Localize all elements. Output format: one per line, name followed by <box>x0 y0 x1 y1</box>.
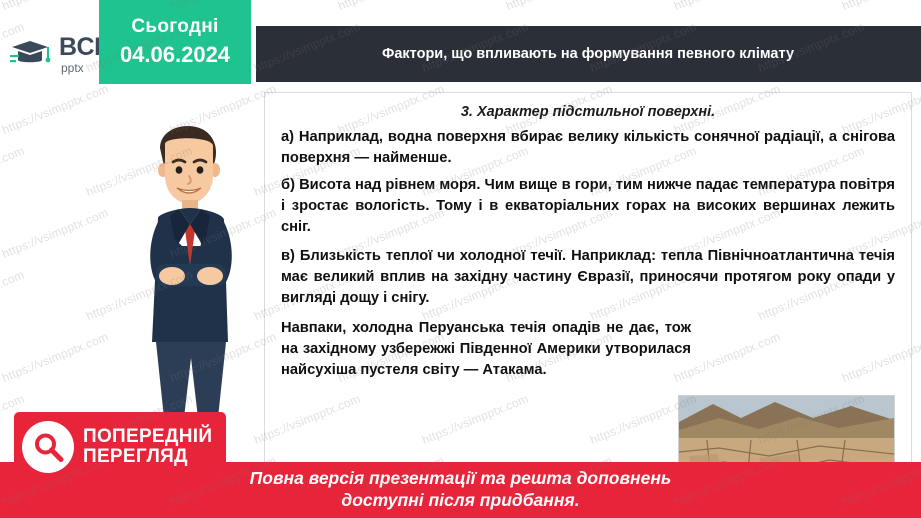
paragraph-c: в) Близькість теплої чи холодної течії. … <box>281 246 895 309</box>
paragraph-d: Навпаки, холодна Перуанська течія опадів… <box>281 318 691 381</box>
preview-badge[interactable]: ПОПЕРЕДНІЙ ПЕРЕГЛЯД <box>14 412 226 481</box>
paragraph-b: б) Висота над рівнем моря. Чим вище в го… <box>281 175 895 238</box>
today-label: Сьогодні <box>131 16 218 38</box>
paragraph-a: а) Наприклад, водна поверхня вбирає вели… <box>281 127 895 169</box>
magnifier-icon <box>22 421 74 473</box>
watermark-text: https://vsimpptx.com <box>672 0 782 13</box>
slide-subtitle: 3. Характер підстильної поверхні. <box>281 104 895 120</box>
slide-page: Фактори, що впливають на формування певн… <box>0 0 921 518</box>
banner-line2: доступні після придбання. <box>250 490 672 512</box>
preview-badge-line2: ПЕРЕГЛЯД <box>83 447 212 467</box>
watermark-text: https://vsimpptx.com <box>0 0 110 13</box>
teacher-character-illustration <box>122 96 262 426</box>
page-title: Фактори, що впливають на формування певн… <box>255 26 921 82</box>
date-badge: Сьогодні 04.06.2024 <box>99 0 251 84</box>
header-bar: Фактори, що впливають на формування певн… <box>255 26 921 82</box>
watermark-text: https://vsimpptx.com <box>504 0 614 13</box>
banner-line1: Повна версія презентації та решта доповн… <box>250 468 672 490</box>
graduation-cap-icon <box>10 39 54 69</box>
preview-badge-line1: ПОПЕРЕДНІЙ <box>83 427 212 447</box>
date-value: 04.06.2024 <box>120 42 230 68</box>
watermark-text: https://vsimpptx.com <box>840 0 921 13</box>
slide-content-panel: 3. Характер підстильної поверхні. а) Нап… <box>264 92 912 474</box>
watermark-text: https://vsimpptx.com <box>336 0 446 13</box>
